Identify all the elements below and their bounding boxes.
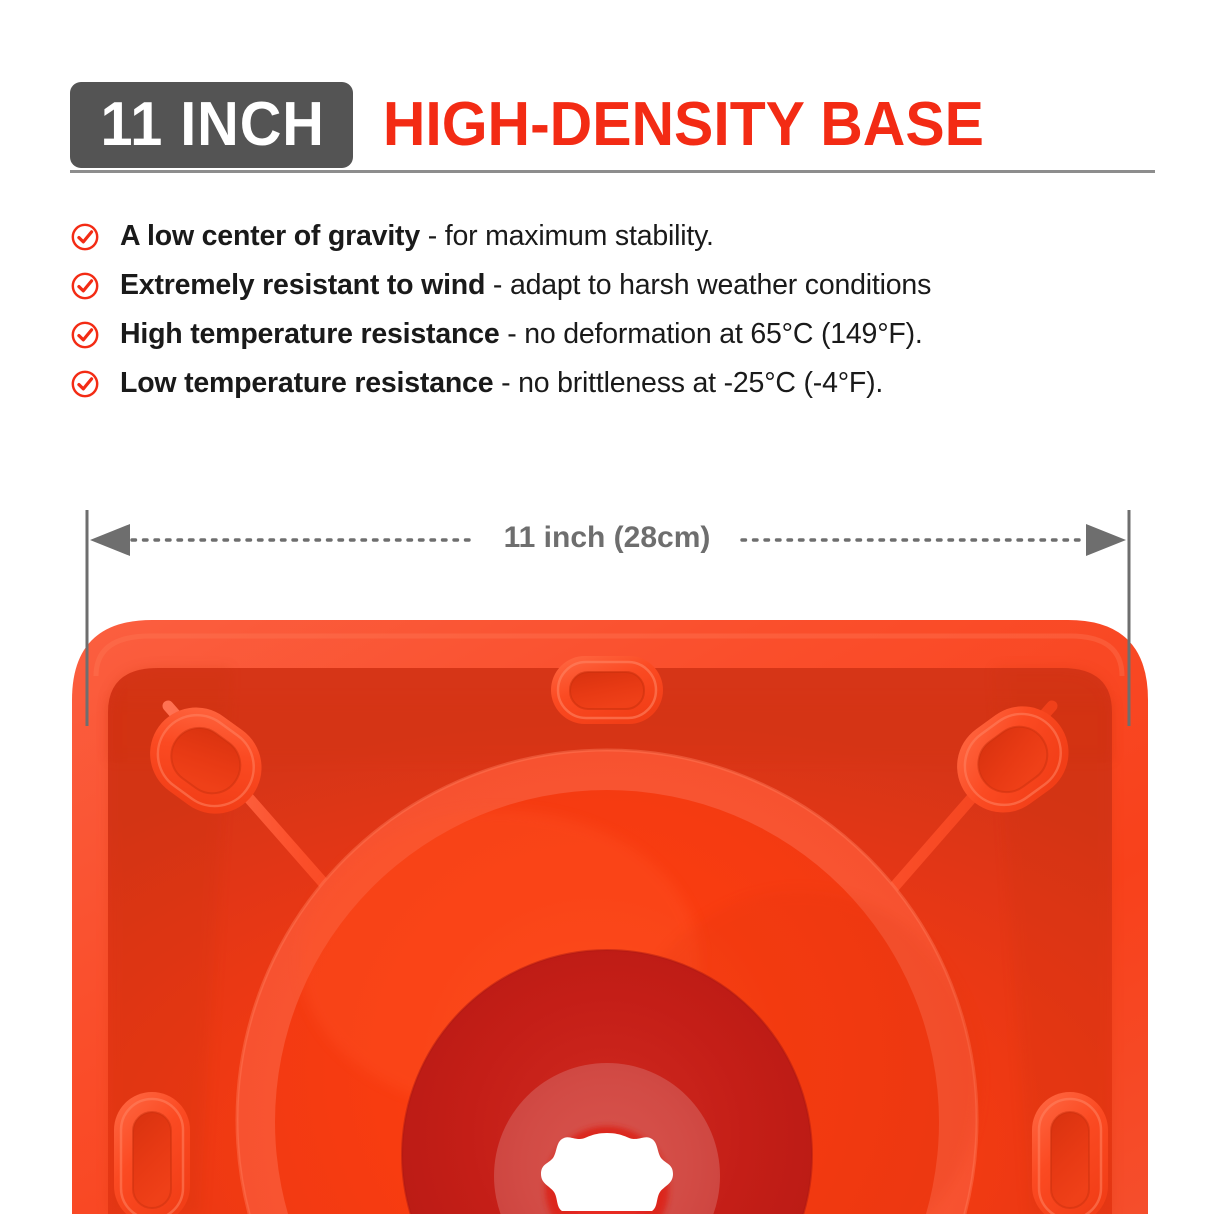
list-item-rest: - no deformation at 65°C (149°F). bbox=[500, 318, 923, 350]
list-item: A low center of gravity - for maximum st… bbox=[70, 212, 1160, 261]
list-item-rest: - adapt to harsh weather conditions bbox=[485, 269, 931, 301]
list-item-text: Extremely resistant to wind - adapt to h… bbox=[120, 271, 931, 300]
list-item: Extremely resistant to wind - adapt to h… bbox=[70, 261, 1160, 310]
title-badge-text: 11 INCH bbox=[100, 94, 324, 156]
infographic-page: 11 inch (28cm) 11 INCH HIGH-DENSITY BASE… bbox=[0, 0, 1214, 1214]
list-item-text: A low center of gravity - for maximum st… bbox=[120, 222, 714, 251]
check-circle-icon bbox=[70, 369, 100, 399]
slot-bottom-left bbox=[114, 1092, 190, 1214]
check-circle-icon bbox=[70, 320, 100, 350]
list-item-rest: - no brittleness at -25°C (-4°F). bbox=[493, 367, 883, 399]
check-circle-icon bbox=[70, 222, 100, 252]
check-circle-icon bbox=[70, 271, 100, 301]
list-item-bold: Extremely resistant to wind bbox=[120, 269, 485, 301]
title-badge: 11 INCH bbox=[70, 82, 353, 168]
slot-bottom-right bbox=[1032, 1092, 1108, 1214]
product-illustration bbox=[0, 0, 1214, 1214]
list-item-text: High temperature resistance - no deforma… bbox=[120, 320, 923, 349]
center-hole bbox=[541, 1133, 673, 1211]
list-item-bold: High temperature resistance bbox=[120, 318, 500, 350]
list-item-text: Low temperature resistance - no brittlen… bbox=[120, 369, 883, 398]
title-underline bbox=[70, 170, 1155, 173]
product-image bbox=[0, 0, 1214, 1214]
title-main: HIGH-DENSITY BASE bbox=[353, 82, 1000, 168]
list-item-rest: - for maximum stability. bbox=[420, 220, 714, 252]
list-item-bold: Low temperature resistance bbox=[120, 367, 493, 399]
list-item: High temperature resistance - no deforma… bbox=[70, 310, 1160, 359]
page-title: 11 INCH HIGH-DENSITY BASE bbox=[70, 82, 1155, 168]
feature-list: A low center of gravity - for maximum st… bbox=[70, 212, 1160, 408]
list-item: Low temperature resistance - no brittlen… bbox=[70, 359, 1160, 408]
slot-top-center bbox=[551, 656, 663, 724]
title-main-text: HIGH-DENSITY BASE bbox=[383, 94, 984, 156]
list-item-bold: A low center of gravity bbox=[120, 220, 420, 252]
